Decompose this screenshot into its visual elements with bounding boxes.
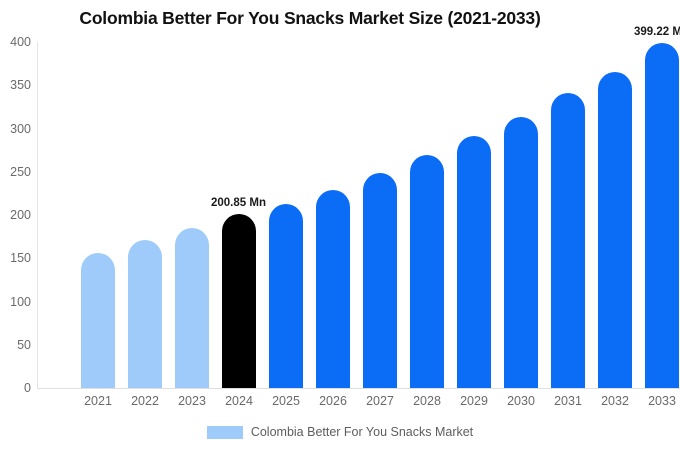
bar-2023[interactable] [175, 228, 209, 388]
x-axis-tick-label: 2022 [131, 394, 159, 408]
x-axis-tick-label: 2024 [225, 394, 253, 408]
legend-swatch [207, 426, 243, 439]
bar-2032[interactable] [598, 72, 632, 388]
bar-2024[interactable] [222, 214, 256, 388]
x-axis-line [37, 388, 680, 389]
legend-label[interactable]: Colombia Better For You Snacks Market [251, 425, 473, 439]
x-axis-tick-label: 2033 [648, 394, 676, 408]
x-axis-tick-labels: 2021202220232024202520262027202820292030… [37, 394, 680, 414]
y-axis-tick-label: 200 [10, 208, 31, 222]
x-axis-tick-label: 2032 [601, 394, 629, 408]
chart-legend: Colombia Better For You Snacks Market [0, 425, 680, 439]
bar-chart: Colombia Better For You Snacks Market Si… [0, 0, 680, 450]
x-axis-tick-label: 2027 [366, 394, 394, 408]
x-axis-tick-label: 2028 [413, 394, 441, 408]
x-axis-tick-label: 2030 [507, 394, 535, 408]
bars-layer [37, 42, 680, 388]
x-axis-tick-label: 2023 [178, 394, 206, 408]
bar-2031[interactable] [551, 93, 585, 388]
y-axis-tick-label: 300 [10, 122, 31, 136]
bar-2026[interactable] [316, 190, 350, 388]
x-axis-tick-label: 2021 [84, 394, 112, 408]
y-axis-tick-label: 50 [17, 338, 31, 352]
x-axis-tick-label: 2025 [272, 394, 300, 408]
y-axis-tick-label: 250 [10, 165, 31, 179]
bar-2025[interactable] [269, 204, 303, 388]
x-axis-tick-label: 2026 [319, 394, 347, 408]
y-axis-tick-label: 400 [10, 35, 31, 49]
bar-2030[interactable] [504, 117, 538, 388]
bar-2022[interactable] [128, 240, 162, 388]
bar-2021[interactable] [81, 253, 115, 388]
bar-2029[interactable] [457, 136, 491, 388]
x-axis-tick-label: 2029 [460, 394, 488, 408]
chart-title: Colombia Better For You Snacks Market Si… [0, 8, 620, 29]
x-axis-tick-label: 2031 [554, 394, 582, 408]
y-axis-tick-label: 0 [24, 381, 31, 395]
bar-2033[interactable] [645, 43, 679, 388]
y-axis-tick-labels: 050100150200250300350400 [0, 42, 31, 388]
value-label-2033: 399.22 Mn [634, 26, 680, 38]
y-axis-tick-label: 150 [10, 251, 31, 265]
y-axis-tick-label: 350 [10, 78, 31, 92]
bar-2028[interactable] [410, 155, 444, 388]
bar-2027[interactable] [363, 173, 397, 388]
y-axis-tick-label: 100 [10, 295, 31, 309]
value-label-2024: 200.85 Mn [211, 197, 266, 209]
